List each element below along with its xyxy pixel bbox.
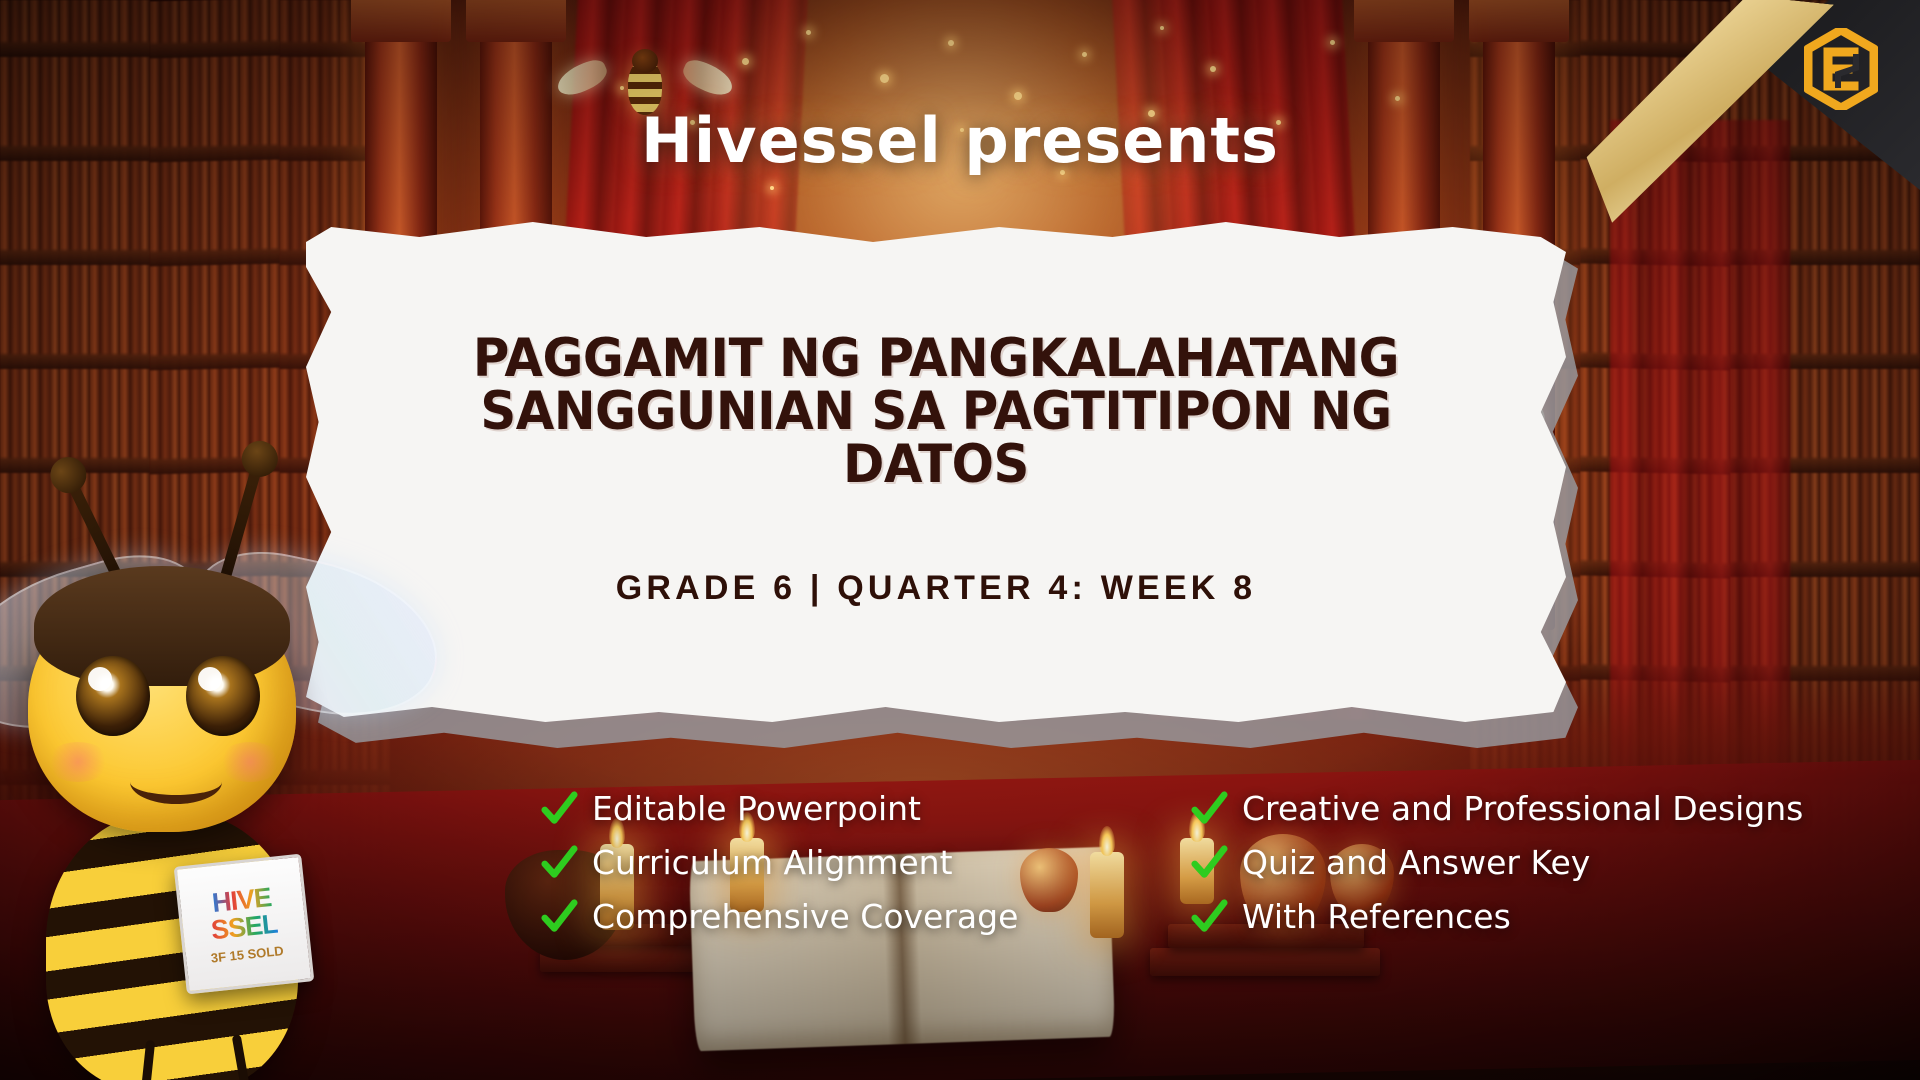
feature-label: Quiz and Answer Key: [1242, 845, 1590, 881]
check-icon: [1190, 844, 1228, 882]
list-item: With References: [1190, 898, 1880, 936]
feature-label: Curriculum Alignment: [592, 845, 953, 881]
mascot-smile: [130, 760, 222, 804]
page-title: PAGGAMIT NG PANGKALAHATANG SANGGUNIAN SA…: [452, 332, 1420, 491]
check-icon: [540, 790, 578, 828]
grade-quarter-week-subtitle: GRADE 6 | QUARTER 4: WEEK 8: [616, 569, 1257, 608]
list-item: Comprehensive Coverage: [540, 898, 1160, 936]
feature-label: Comprehensive Coverage: [592, 899, 1018, 935]
book-label-line3: 3F 15 SOLD: [210, 943, 284, 966]
book-label-line2: SSEL: [210, 910, 279, 944]
list-item: Editable Powerpoint: [540, 790, 1160, 828]
mascot-eye-right: [186, 656, 260, 736]
check-icon: [540, 844, 578, 882]
presents-text: Hivessel presents: [641, 104, 1279, 177]
check-icon: [1190, 790, 1228, 828]
check-icon: [1190, 898, 1228, 936]
features-list: Editable Powerpoint Creative and Profess…: [540, 790, 1880, 936]
bee-mascot: HIVE SSEL 3F 15 SOLD: [0, 394, 430, 1080]
mascot-cheek-left: [46, 742, 110, 782]
mascot-book: HIVE SSEL 3F 15 SOLD: [174, 854, 315, 995]
feature-label: With References: [1242, 899, 1511, 935]
bee-head: [632, 49, 658, 73]
feature-label: Creative and Professional Designs: [1242, 791, 1803, 827]
list-item: Creative and Professional Designs: [1190, 790, 1880, 828]
list-item: Quiz and Answer Key: [1190, 844, 1880, 882]
slide-root: Hivessel presents PAGGAMIT NG PANGKALAHA…: [0, 0, 1920, 1080]
list-item: Curriculum Alignment: [540, 844, 1160, 882]
book-stack: [1150, 948, 1380, 976]
hivessel-hex-logo-icon[interactable]: [1804, 28, 1878, 110]
title-card: PAGGAMIT NG PANGKALAHATANG SANGGUNIAN SA…: [306, 222, 1566, 722]
feature-label: Editable Powerpoint: [592, 791, 921, 827]
mascot-eye-left: [76, 656, 150, 736]
check-icon: [540, 898, 578, 936]
mascot-hair: [34, 566, 290, 686]
mascot-cheek-right: [218, 742, 282, 782]
